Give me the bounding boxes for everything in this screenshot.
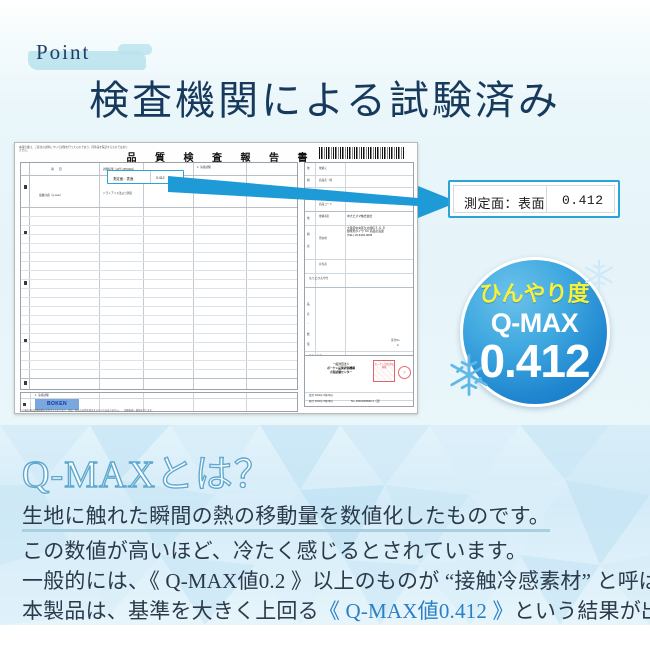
- barcode-icon: [319, 147, 405, 159]
- qmax-desc-line-3: 一般的には、《 Q-MAX値0.2 》以上のものが “接触冷感素材” と呼ばれま…: [22, 565, 650, 595]
- qmax-section-heading: Q-MAXとは？: [22, 443, 273, 498]
- measurement-callout: 測定面：表面 0.412: [448, 180, 620, 218]
- panel-group-label-10: 数: [307, 333, 310, 336]
- table-row-label: 接触冷感（q-max）: [39, 194, 63, 197]
- official-seal-icon: ボーケン品質評価機構: [373, 360, 395, 382]
- point-brush-accent: [118, 44, 152, 55]
- panel-field-value-8: もっとひんやり: [309, 277, 329, 280]
- certification-block: 一般財団法人ボーケン品質評価機構大阪試験センター ボーケン品質評価機構 印 受付…: [304, 355, 414, 407]
- qmax-desc-line-4: 本製品は、基準を大きく上回る《 Q-MAX値0.412 》という結果が出ました。: [22, 595, 650, 625]
- point-text: Point: [30, 40, 96, 65]
- row-marker: [24, 185, 28, 189]
- boken-section-label: 1. 冷感試験: [35, 394, 49, 397]
- panel-field-label-1: 依頼元: [319, 167, 327, 170]
- certificate-number: No. 20221023620-1（変）: [351, 399, 382, 403]
- qmax-desc-line-2: この数値が高いほど、冷たく感じるとされています。: [22, 535, 527, 565]
- certification-organization: 一般財団法人ボーケン品質評価機構大阪試験センター: [311, 362, 371, 375]
- panel-field-label-6: 所在地: [319, 237, 327, 240]
- bottom-white-strip: [0, 625, 650, 650]
- panel-group-label-7: 品: [307, 303, 310, 306]
- badge-line-1: ひんやり度: [452, 276, 617, 308]
- measurement-surface-label: 測定面：表面: [113, 176, 133, 181]
- callout-divider: [546, 185, 547, 213]
- panel-group-label-11: 量: [307, 343, 310, 346]
- panel-field-label-7: 担当者: [319, 263, 327, 266]
- panel-group-label-6: 者: [307, 245, 310, 248]
- row-marker: [24, 381, 28, 385]
- table-side-column: [21, 163, 30, 389]
- secondary-seal-icon: 印: [398, 366, 411, 379]
- page-title: 検査機関による試験済み: [0, 68, 650, 126]
- callout-label: 測定面：表面: [464, 193, 545, 212]
- panel-field-value-6: 大阪府中央区久太郎町３-６-８ 御堂筋ダイワ ６F 商品企画課 (TEL) 06…: [347, 227, 411, 237]
- row-marker: [23, 403, 26, 406]
- panel-group-label-1: 依: [307, 167, 310, 170]
- qmax-badge: ひんやり度 Q-MAX 0.412: [452, 252, 617, 417]
- callout-value: 0.412: [562, 193, 604, 208]
- issue-date: 発行 2021年 8月26日: [309, 399, 333, 403]
- table-col-header-3: 1. 冷感試験: [197, 166, 211, 169]
- panel-field-value-10: 2: [397, 344, 399, 347]
- table-col-header-1: 項 目: [51, 168, 62, 171]
- pointer-arrow-icon: [168, 172, 458, 228]
- receipt-date: 受付 2021年 8月24日: [309, 393, 333, 397]
- panel-group-label-5: 頼: [307, 233, 310, 236]
- table-row-sub: ドライアイス法より測定: [103, 192, 139, 195]
- document-footnote: この報告書は試験成績を証明するものであり、商品・製品の品質を保証するものではあり…: [20, 408, 154, 412]
- promo-page: Point 検査機関による試験済み 本報告書は、ご提出の試料について試験を行った…: [0, 0, 650, 650]
- qmax-desc-line-1: 生地に触れた瞬間の熱の移動量を数値化したものです。: [22, 500, 550, 530]
- badge-line-3: 0.412: [452, 334, 617, 388]
- panel-group-label-8: 名: [307, 313, 310, 316]
- panel-group-label-9: ・: [307, 323, 310, 326]
- panel-field-label-10: 受付No: [391, 339, 400, 342]
- measurement-value: 0.412: [156, 176, 165, 180]
- point-label: Point: [30, 40, 96, 65]
- row-marker: [24, 281, 28, 285]
